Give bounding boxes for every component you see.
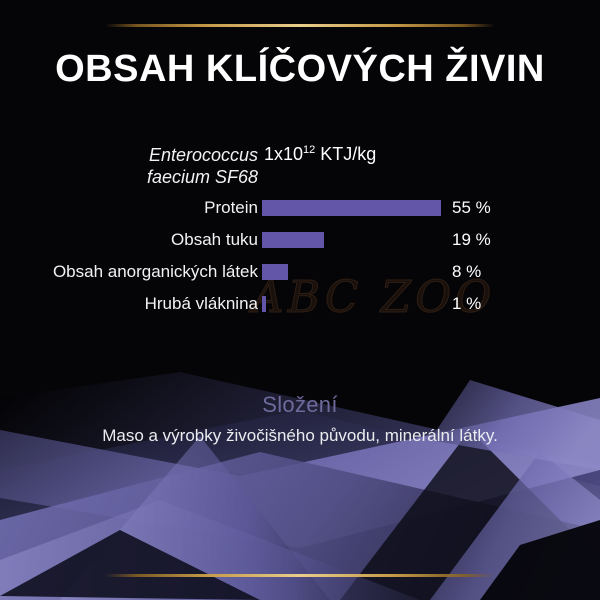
nutrient-chart: Enterococcus faecium SF68 1x1012 KTJ/kg … bbox=[0, 144, 600, 320]
value-suffix: KTJ/kg bbox=[315, 144, 376, 164]
table-row: Obsah tuku 19 % bbox=[0, 224, 600, 256]
bar-cell-fibre bbox=[262, 296, 444, 312]
bar-cell-inorganic bbox=[262, 264, 444, 280]
page-title: OBSAH KLÍČOVÝCH ŽIVIN bbox=[0, 48, 600, 91]
row-value-species: 1x1012 KTJ/kg bbox=[262, 144, 376, 165]
row-label-species: Enterococcus faecium SF68 bbox=[0, 144, 262, 188]
composition-section: Složení Maso a výrobky živočišného původ… bbox=[0, 392, 600, 446]
row-label-fibre: Hrubá vláknina bbox=[0, 293, 262, 315]
bar-fill-fibre bbox=[262, 296, 266, 312]
table-row: Enterococcus faecium SF68 1x1012 KTJ/kg bbox=[0, 144, 600, 192]
bar-fill-inorganic bbox=[262, 264, 288, 280]
value-prefix: 1x10 bbox=[264, 144, 303, 164]
row-value-inorganic: 8 % bbox=[444, 262, 481, 282]
table-row: Protein 55 % bbox=[0, 192, 600, 224]
table-row: Hrubá vláknina 1 % bbox=[0, 288, 600, 320]
row-label-fat: Obsah tuku bbox=[0, 229, 262, 251]
bar-fill-fat bbox=[262, 232, 324, 248]
composition-heading: Složení bbox=[0, 392, 600, 418]
row-label-protein: Protein bbox=[0, 197, 262, 219]
row-label-inorganic: Obsah anorganických látek bbox=[0, 261, 262, 283]
row-value-fat: 19 % bbox=[444, 230, 491, 250]
bar-fill-protein bbox=[262, 200, 441, 216]
species-name-line2: faecium SF68 bbox=[147, 167, 258, 187]
bar-cell-fat bbox=[262, 232, 444, 248]
bar-cell-protein bbox=[262, 200, 444, 216]
species-name-line1: Enterococcus bbox=[149, 145, 258, 165]
nutrition-infographic-poster: ABC ZOO OBSAH KLÍČOVÝCH ŽIVIN Enterococc… bbox=[0, 0, 600, 600]
value-superscript: 12 bbox=[303, 144, 315, 156]
row-value-fibre: 1 % bbox=[444, 294, 481, 314]
row-value-protein: 55 % bbox=[444, 198, 491, 218]
composition-text: Maso a výrobky živočišného původu, miner… bbox=[0, 426, 600, 446]
table-row: Obsah anorganických látek 8 % bbox=[0, 256, 600, 288]
